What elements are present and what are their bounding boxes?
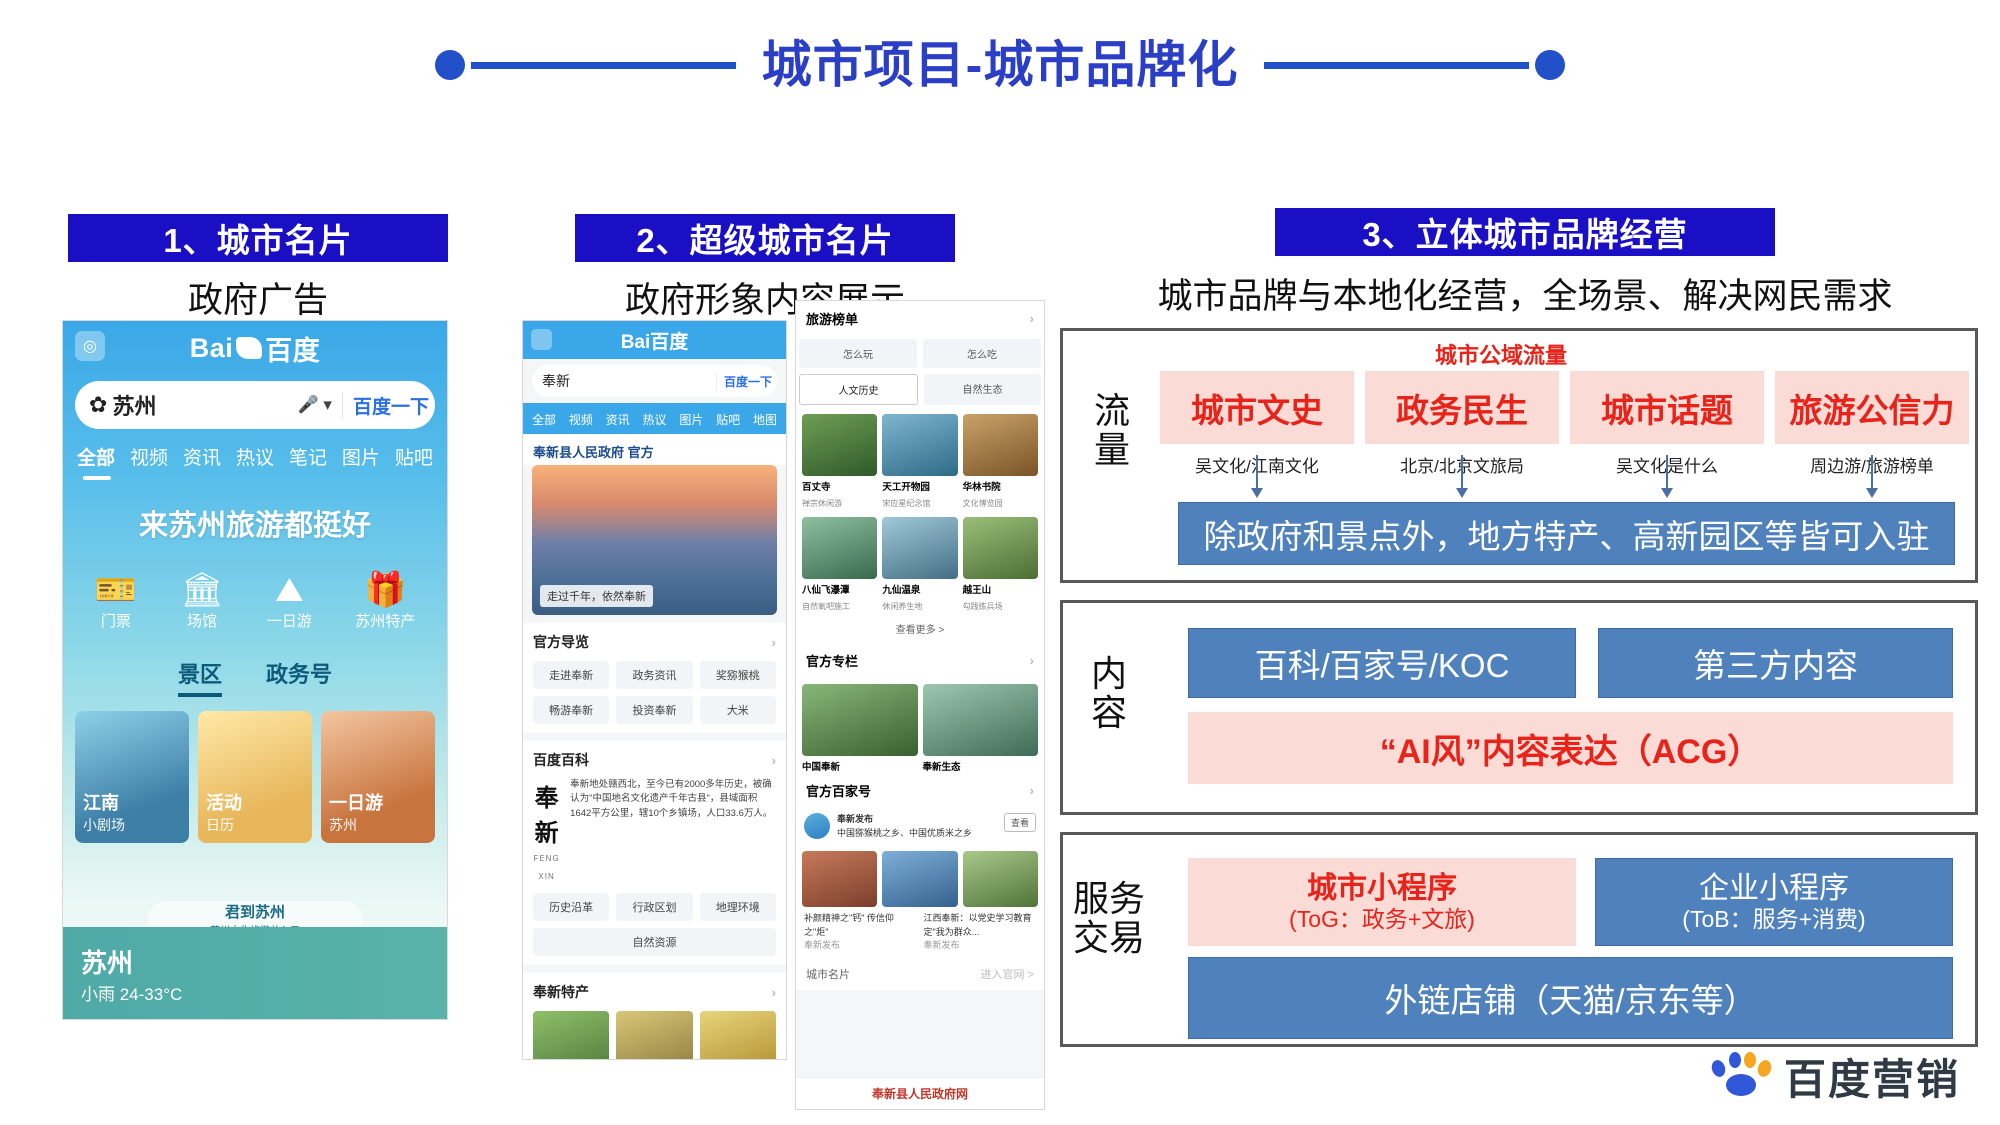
- p2-tab-3[interactable]: 热议: [642, 411, 666, 428]
- p3-grid-row-2: 八仙飞瀑潭 自然氧吧施工 九仙温泉 休闲养生地 越王山 勾践练兵场: [796, 511, 1044, 614]
- chevron-right-icon-5[interactable]: ›: [1030, 311, 1034, 326]
- p1-card-jiangnan-sub: 小剧场: [83, 817, 125, 833]
- p3-grid-name-5: 越王山: [963, 582, 1038, 596]
- p3-baijia-name: 奉新发布: [837, 814, 873, 824]
- p2-baike-body: 奉新 FENG XIN 奉新地处赣西北，至今已有2000多年历史，被确认为"中国…: [533, 778, 776, 884]
- thumbnail-image-5: [882, 414, 957, 476]
- column-subtitle-3: 城市品牌与本地化经营，全场景、解决网民需求: [1090, 268, 1960, 319]
- quick-entry-ticket[interactable]: 🎫 门票: [95, 570, 137, 631]
- p1-tab-6[interactable]: 贴吧: [395, 443, 433, 470]
- p3-news-image-0[interactable]: [802, 851, 877, 907]
- arrow-down-government: [1461, 455, 1463, 489]
- p2-baike-chip-2[interactable]: 地理环境: [700, 893, 776, 921]
- p2-search-button[interactable]: 百度一下: [716, 373, 772, 390]
- slide-root: 城市项目-城市品牌化 1、城市名片 政府广告 2、超级城市名片 政府形象内容展示…: [0, 0, 2000, 1125]
- p3-grid-item-5[interactable]: 越王山 勾践练兵场: [963, 517, 1038, 614]
- p2-tab-2[interactable]: 资讯: [606, 411, 630, 428]
- p3-grid-desc-5: 勾践练兵场: [963, 602, 1003, 611]
- p1-card-daytrip-sub: 苏州: [329, 817, 357, 833]
- p3-grid-desc-1: 宋应星纪念馆: [882, 499, 930, 508]
- quick-entry-museum[interactable]: 🏛 场馆: [180, 570, 223, 631]
- phone-mock-suzhou: ◎ Bai百度 ✿ 苏州 🎤 ▾ 百度一下 全部 视频 资讯 热议 笔记 图片 …: [62, 320, 448, 1020]
- baidu-paw-icon: [1710, 1052, 1772, 1102]
- p2-specialty-title: 奉新特产›: [533, 982, 776, 1002]
- camera-icon-2[interactable]: [531, 329, 552, 350]
- p2-specialty-item-2[interactable]: 奉新猕猴桃 水果之王: [700, 1011, 776, 1060]
- p3-grid-name-0: 百丈寺: [802, 479, 877, 493]
- quick-entry-museum-label: 场馆: [187, 613, 217, 630]
- p3-baijia-desc: 中国猕猴桃之乡、中国优质米之乡: [837, 828, 972, 838]
- p1-tab-4[interactable]: 笔记: [289, 443, 327, 470]
- traffic-public-domain-note: 城市公域流量: [1435, 338, 1567, 370]
- title-dot-right: [1535, 50, 1565, 80]
- p2-search-value: 奉新: [542, 371, 570, 391]
- p3-grid-name-3: 八仙飞瀑潭: [802, 582, 877, 596]
- title-rule-left: [471, 62, 736, 69]
- thumbnail-image-7: [802, 517, 877, 579]
- p2-nav-chips: 走进奉新 政务资讯 奖猕猴桃 畅游奉新 投资奉新 大米: [533, 661, 776, 724]
- p2-nav-chip-0[interactable]: 走进奉新: [533, 661, 609, 689]
- thumbnail-image-14: [963, 851, 1038, 907]
- p2-nav-title: 官方导览›: [533, 632, 776, 652]
- p3-news-row: 补颜精神之"钙" 传信仰之"炬" 奉新发布 江西奉新：以党史学习教育定"我为群众…: [796, 907, 1044, 958]
- quick-entry-specialty-label: 苏州特产: [355, 613, 415, 630]
- p2-baike-logo: 奉新 FENG XIN: [533, 778, 560, 884]
- p2-baike-logo-main: 奉新: [533, 778, 560, 848]
- gift-icon: 🎁: [355, 570, 415, 610]
- service-box-city-app[interactable]: 城市小程序 (ToG：政务+文旅): [1188, 858, 1576, 946]
- p1-card-activity-sub: 日历: [206, 817, 234, 833]
- p1-tab-0[interactable]: 全部: [77, 443, 115, 470]
- service-box-enterprise-app[interactable]: 企业小程序 (ToB：服务+消费): [1595, 858, 1953, 946]
- p3-grid-name-4: 九仙温泉: [882, 582, 957, 596]
- thumbnail-image-11: [923, 684, 1039, 756]
- p3-seg-howeat[interactable]: 怎么吃: [923, 339, 1041, 368]
- p1-search-button[interactable]: 百度一下: [342, 392, 429, 419]
- column-header-2: 2、超级城市名片: [575, 214, 955, 262]
- chevron-right-icon-7[interactable]: ›: [1030, 783, 1034, 798]
- service-box-external-shop[interactable]: 外链店铺（天猫/京东等）: [1188, 957, 1953, 1039]
- p3-baijia-view-button[interactable]: 查看: [1004, 813, 1036, 832]
- mic-icon[interactable]: 🎤 ▾: [298, 395, 332, 415]
- page-title: 城市项目-城市品牌化: [736, 40, 1265, 90]
- p3-news-images: [796, 845, 1044, 907]
- baidu-logo-2: Bai百度: [621, 327, 689, 354]
- p1-subtab-gov[interactable]: 政务号: [266, 657, 332, 697]
- content-box-baike[interactable]: 百科/百家号/KOC: [1188, 628, 1576, 698]
- p3-column-name-1: 奉新生态: [923, 759, 1039, 773]
- p3-baijia-info: 奉新发布 中国猕猴桃之乡、中国优质米之乡: [837, 813, 997, 840]
- row-label-traffic: 流量: [1085, 392, 1139, 470]
- chevron-right-icon-2[interactable]: ›: [772, 753, 776, 768]
- p1-tab-strip[interactable]: 全部 视频 资讯 热议 笔记 图片 贴吧: [63, 429, 447, 470]
- arrow-down-topic: [1666, 455, 1668, 489]
- p2-specialty-list: 奉新猕猴桃 俗称羊桃梨 奉新大米 贡米产地 奉新猕猴桃 水果之王: [533, 1011, 776, 1060]
- p2-nav-chip-4[interactable]: 投资奉新: [616, 696, 692, 724]
- thumbnail-image-2: [616, 1011, 692, 1060]
- thumbnail-image-9: [963, 517, 1038, 579]
- p2-gov-label: 奉新县人民政府 官方: [523, 434, 786, 465]
- thumbnail-image-4: [802, 414, 877, 476]
- p3-segment-bottom[interactable]: 人文历史 自然生态: [796, 371, 1044, 408]
- p2-nav-section: 官方导览› 走进奉新 政务资讯 奖猕猴桃 畅游奉新 投资奉新 大米: [523, 623, 786, 733]
- location-icon: ✿: [89, 392, 107, 418]
- p3-top-title: 旅游榜单›: [796, 301, 1044, 336]
- p3-news-image-2[interactable]: [963, 851, 1038, 907]
- p1-tab-2[interactable]: 资讯: [183, 443, 221, 470]
- thumbnail-image-8: [882, 517, 957, 579]
- p2-specialty-item-1[interactable]: 奉新大米 贡米产地: [616, 1011, 692, 1060]
- p1-search-bar[interactable]: ✿ 苏州 🎤 ▾ 百度一下: [75, 381, 435, 429]
- phone-mock-fengxin-left: Bai百度 奉新 百度一下 全部 视频 资讯 热议 图片 贴吧 地图 奉新县人民…: [522, 320, 787, 1060]
- thumbnail-image-10: [802, 684, 918, 756]
- p1-tab-5[interactable]: 图片: [342, 443, 380, 470]
- chevron-right-icon[interactable]: ›: [772, 635, 776, 650]
- p3-grid-item-3[interactable]: 八仙飞瀑潭 自然氧吧施工: [802, 517, 877, 614]
- p1-header: ◎ Bai百度: [63, 321, 447, 375]
- p3-bottom-right[interactable]: 进入官网 >: [981, 966, 1034, 982]
- traffic-summary-bar[interactable]: 除政府和景点外，地方特产、高新园区等皆可入驻: [1178, 502, 1955, 565]
- p3-grid-desc-2: 文化博览园: [963, 499, 1003, 508]
- p1-weather-card: 苏州 小雨 24-33°C: [63, 927, 447, 1019]
- chevron-right-icon-3[interactable]: ›: [772, 985, 776, 1000]
- p1-card-jiangnan[interactable]: 江南 小剧场: [75, 711, 189, 843]
- p3-grid-desc-4: 休闲养生地: [882, 602, 922, 611]
- p1-tab-3[interactable]: 热议: [236, 443, 274, 470]
- p2-search-bar[interactable]: 奉新 百度一下: [532, 365, 777, 397]
- p2-tab-5[interactable]: 贴吧: [716, 411, 740, 428]
- p3-grid-item-4[interactable]: 九仙温泉 休闲养生地: [882, 517, 957, 614]
- arrow-down-tourism: [1871, 455, 1873, 489]
- p2-nav-chip-3[interactable]: 畅游奉新: [533, 696, 609, 724]
- p3-grid-name-2: 华林书院: [963, 479, 1038, 493]
- column-header-3: 3、立体城市品牌经营: [1275, 208, 1775, 256]
- quick-entry-daytrip[interactable]: ⛰ 一日游: [267, 570, 312, 631]
- p2-tab-4[interactable]: 图片: [679, 411, 703, 428]
- chevron-right-icon-6[interactable]: ›: [1030, 653, 1034, 668]
- p3-bottom-bar: 城市名片 进入官网 >: [796, 958, 1044, 990]
- p2-nav-chip-1[interactable]: 政务资讯: [616, 661, 692, 689]
- p3-segment-top[interactable]: 怎么玩 怎么吃: [796, 336, 1044, 371]
- p2-tab-strip[interactable]: 全部 视频 资讯 热议 图片 贴吧 地图: [523, 403, 786, 434]
- p2-nav-chip-2[interactable]: 奖猕猴桃: [700, 661, 776, 689]
- avatar: [804, 813, 830, 839]
- service-city-app-sub: (ToG：政务+文旅): [1289, 906, 1475, 933]
- p2-hero-tag: 走过千年，依然奉新: [540, 585, 653, 607]
- p2-baike-text: 奉新地处赣西北，至今已有2000多年历史，被确认为"中国地名文化遗产千年古县"，…: [570, 778, 776, 884]
- slide-title-bar: 城市项目-城市品牌化: [0, 32, 2000, 98]
- p2-nav-chip-5[interactable]: 大米: [700, 696, 776, 724]
- p1-slogan: 来苏州旅游都挺好: [63, 502, 447, 544]
- p3-grid-item-1[interactable]: 天工开物园 宋应星纪念馆: [882, 414, 957, 511]
- p3-footer: 奉新县人民政府网: [796, 1077, 1044, 1109]
- row-label-service: 服务 交易: [1068, 880, 1150, 958]
- p3-grid-row-1: 百丈寺 禅宗休闲游 天工开物园 宋应星纪念馆 华林书院 文化博览园: [796, 408, 1044, 511]
- p3-baijia-title: 官方百家号›: [796, 773, 1044, 808]
- thumbnail-image: [533, 1011, 609, 1060]
- traffic-box-government[interactable]: 政务民生: [1365, 371, 1559, 444]
- traffic-box-tourism[interactable]: 旅游公信力: [1775, 371, 1969, 444]
- row-label-service-line2: 交易: [1073, 917, 1145, 958]
- p1-card-activity-title: 活动: [206, 789, 242, 815]
- p3-bottom-left: 城市名片: [806, 966, 850, 982]
- column-subtitle-1: 政府广告: [68, 272, 448, 323]
- p3-column-title: 官方专栏›: [796, 643, 1044, 678]
- quick-entry-daytrip-label: 一日游: [267, 613, 312, 630]
- phone-mock-fengxin-right: 旅游榜单› 怎么玩 怎么吃 人文历史 自然生态 百丈寺 禅宗休闲游 天工开物园 …: [795, 300, 1045, 1110]
- thumbnail-image-6: [963, 414, 1038, 476]
- p3-column-row: 中国奉新 奉新生态: [796, 678, 1044, 773]
- p3-news-item-0[interactable]: 补颜精神之"钙" 传信仰之"炬" 奉新发布: [804, 912, 917, 953]
- brand-name: 百度营销: [1784, 1046, 1960, 1107]
- p3-seg-nature[interactable]: 自然生态: [924, 374, 1041, 405]
- thumbnail-image-13: [882, 851, 957, 907]
- p3-grid-name-1: 天工开物园: [882, 479, 957, 493]
- traffic-box-topic[interactable]: 城市话题: [1570, 371, 1764, 444]
- p1-subtab-strip[interactable]: 景区 政务号: [63, 657, 447, 697]
- p1-weather-city: 苏州: [81, 943, 429, 980]
- p3-column-name-0: 中国奉新: [802, 759, 918, 773]
- p2-tab-6[interactable]: 地图: [753, 411, 777, 428]
- p2-gov-badge: 官方: [628, 445, 654, 460]
- title-rule-right: [1264, 62, 1529, 69]
- column-header-1: 1、城市名片: [68, 214, 448, 262]
- p3-grid-item-0[interactable]: 百丈寺 禅宗休闲游: [802, 414, 877, 511]
- p3-grid-item-2[interactable]: 华林书院 文化博览园: [963, 414, 1038, 511]
- p1-entry-pill-title: 君到苏州: [225, 901, 285, 922]
- p1-card-list: 江南 小剧场 活动 日历 一日游 苏州: [63, 697, 447, 843]
- arrow-down-culture: [1256, 455, 1258, 489]
- p3-grid-desc-3: 自然氧吧施工: [802, 602, 850, 611]
- p2-baike-chip-1[interactable]: 行政区划: [616, 893, 692, 921]
- row-label-service-line1: 服务: [1073, 878, 1145, 919]
- p3-more-link[interactable]: 查看更多 >: [796, 614, 1044, 643]
- p1-subtab-scenic[interactable]: 景区: [178, 657, 222, 697]
- p1-tab-1[interactable]: 视频: [130, 443, 168, 470]
- p1-tab-underline: [83, 476, 111, 480]
- p3-seg-history[interactable]: 人文历史: [799, 374, 918, 405]
- p1-card-jiangnan-title: 江南: [83, 789, 125, 815]
- p1-city-value: ✿ 苏州: [89, 389, 156, 421]
- row-label-content: 内容: [1082, 655, 1136, 733]
- content-box-third-party[interactable]: 第三方内容: [1598, 628, 1953, 698]
- p2-baike-chip-3[interactable]: 自然资源: [533, 928, 776, 956]
- service-enterprise-app-sub: (ToB：服务+消费): [1682, 906, 1865, 933]
- p2-header: Bai百度: [523, 321, 786, 359]
- thumbnail-image-12: [802, 851, 877, 907]
- p1-card-daytrip-title: 一日游: [329, 789, 383, 815]
- p2-baike-chips: 历史沿革 行政区划 地理环境 自然资源: [533, 893, 776, 956]
- p3-seg-howplay[interactable]: 怎么玩: [799, 339, 917, 368]
- p1-quick-icons: 🎫 门票 🏛 场馆 ⛰ 一日游 🎁 苏州特产: [63, 570, 447, 631]
- p1-weather-desc: 小雨 24-33°C: [81, 985, 182, 1004]
- traffic-box-culture[interactable]: 城市文史: [1160, 371, 1354, 444]
- ticket-icon: 🎫: [95, 570, 137, 610]
- baidu-logo: Bai百度: [190, 329, 321, 368]
- p3-news-src-0: 奉新发布: [804, 940, 840, 950]
- p2-baike-section: 百度百科› 奉新 FENG XIN 奉新地处赣西北，至今已有2000多年历史，被…: [523, 741, 786, 965]
- p2-baike-chip-0[interactable]: 历史沿革: [533, 893, 609, 921]
- p3-news-image-1[interactable]: [882, 851, 957, 907]
- service-city-app-title: 城市小程序: [1307, 871, 1457, 906]
- p2-baike-logo-sub: FENG XIN: [533, 854, 559, 881]
- baidu-marketing-brand: 百度营销: [1710, 1046, 1960, 1107]
- museum-icon: 🏛: [180, 570, 223, 610]
- p3-grid-desc-0: 禅宗休闲游: [802, 499, 842, 508]
- p2-tab-0[interactable]: 全部: [532, 411, 556, 428]
- p2-specialty-item-0[interactable]: 奉新猕猴桃 俗称羊桃梨: [533, 1011, 609, 1060]
- p3-news-src-1: 奉新发布: [924, 940, 960, 950]
- camera-icon[interactable]: ◎: [75, 331, 105, 361]
- p2-baike-title: 百度百科›: [533, 750, 776, 770]
- p1-card-daytrip[interactable]: 一日游 苏州: [321, 711, 435, 843]
- title-dot-left: [435, 50, 465, 80]
- quick-entry-specialty[interactable]: 🎁 苏州特产: [355, 570, 415, 631]
- p3-baijia-account[interactable]: 奉新发布 中国猕猴桃之乡、中国优质米之乡 查看: [796, 808, 1044, 845]
- p3-column-item-0[interactable]: 中国奉新: [802, 684, 918, 773]
- service-enterprise-app-title: 企业小程序: [1699, 871, 1849, 906]
- quick-entry-ticket-label: 门票: [101, 613, 131, 630]
- p2-hero-image[interactable]: 走过千年，依然奉新: [532, 465, 777, 615]
- p1-card-activity[interactable]: 活动 日历: [198, 711, 312, 843]
- content-highlight-ai[interactable]: “AI风”内容表达（ACG）: [1188, 712, 1953, 784]
- thumbnail-image-3: [700, 1011, 776, 1060]
- p2-tab-1[interactable]: 视频: [569, 411, 593, 428]
- p3-column-item-1[interactable]: 奉新生态: [923, 684, 1039, 773]
- p2-specialty-section: 奉新特产› 奉新猕猴桃 俗称羊桃梨 奉新大米 贡米产地 奉新猕猴桃 水果之王: [523, 973, 786, 1060]
- p3-news-item-1[interactable]: 江西奉新：以党史学习教育定"我为群众... 奉新发布: [924, 912, 1037, 953]
- mountain-icon: ⛰: [267, 570, 312, 610]
